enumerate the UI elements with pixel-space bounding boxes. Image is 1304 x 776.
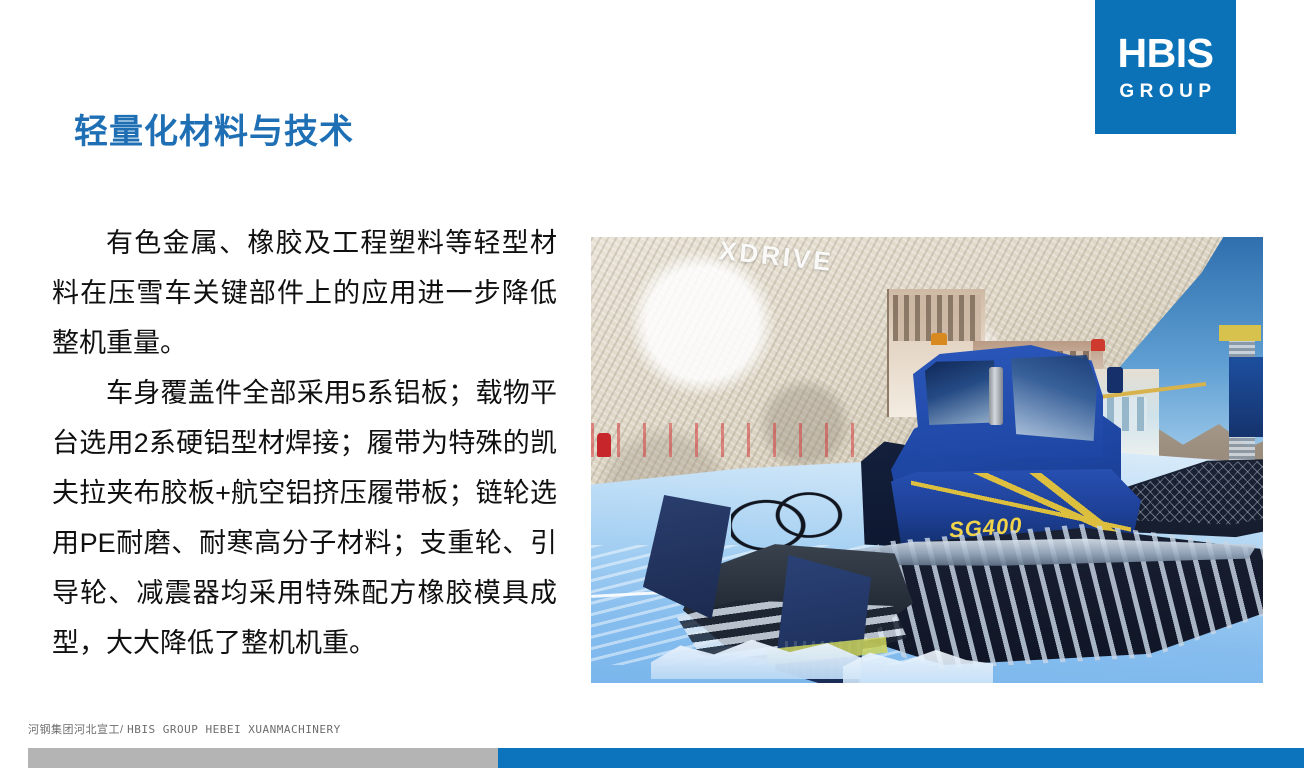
logo-wordmark: HBIS [1118, 33, 1214, 74]
paragraph-1: 有色金属、橡胶及工程塑料等轻型材料在压雪车关键部件上的应用进一步降低整机重量。 [52, 218, 557, 368]
vehicle-beacon-red [1091, 339, 1105, 351]
vehicle-beacon-amber [931, 333, 947, 345]
photo-slope-fence [591, 423, 871, 457]
footer-credit: 河钢集团河北宣工/ HBIS GROUP HEBEI XUANMACHINERY [28, 721, 341, 737]
footer-bar-gray [28, 748, 498, 768]
footer-credit-cn: 河钢集团河北宣工/ [28, 724, 124, 736]
footer-bar-blue [498, 748, 1304, 768]
photo-skier-figure [597, 433, 611, 457]
body-text-column: 有色金属、橡胶及工程塑料等轻型材料在压雪车关键部件上的应用进一步降低整机重量。 … [52, 218, 557, 668]
vehicle-hydraulic-hoses [731, 481, 849, 555]
photo-lift-tower-head [1219, 325, 1261, 341]
logo-subtitle: GROUP [1119, 82, 1216, 101]
hbis-group-logo: HBIS GROUP [1095, 0, 1236, 134]
vehicle-exhaust-stack [989, 367, 1003, 425]
footer-credit-en: HBIS GROUP HEBEI XUANMACHINERY [127, 723, 341, 736]
page-title: 轻量化材料与技术 [74, 112, 354, 153]
vehicle-windshield [1011, 355, 1097, 441]
snow-groomer-photo: XDRIVE SG400 [591, 237, 1263, 683]
vehicle-mirror [1107, 367, 1123, 393]
photo-lift-machinery [1229, 357, 1263, 437]
slide-root: HBIS GROUP 轻量化材料与技术 有色金属、橡胶及工程塑料等轻型材料在压雪… [0, 0, 1304, 776]
vehicle-side-window [925, 359, 997, 425]
paragraph-2: 车身覆盖件全部采用5系铝板；载物平台选用2系硬铝型材焊接；履带为特殊的凯夫拉夹布… [52, 368, 557, 668]
